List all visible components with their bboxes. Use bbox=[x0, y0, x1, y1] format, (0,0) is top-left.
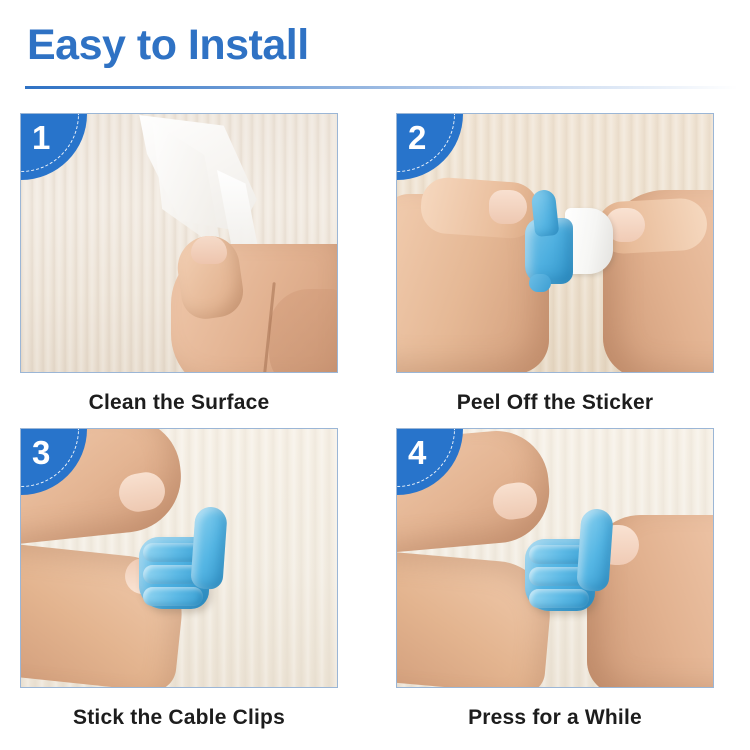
clip-thumb-illustration bbox=[531, 189, 560, 237]
step-photo-3: 3 bbox=[20, 428, 338, 688]
page-title: Easy to Install bbox=[27, 24, 309, 67]
step-photo-2: 2 bbox=[396, 113, 714, 373]
cable-clip-illustration bbox=[139, 503, 235, 615]
step-card-1: 1 Clean the Surface bbox=[20, 113, 338, 415]
install-instructions-page: Easy to Install 1 Clean the Sur bbox=[0, 0, 750, 750]
step-caption-1: Clean the Surface bbox=[20, 391, 338, 415]
step-number-2: 2 bbox=[408, 121, 426, 154]
thumbnail-illustration bbox=[191, 236, 227, 264]
step-caption-3: Stick the Cable Clips bbox=[20, 706, 338, 730]
step-photo-1: 1 bbox=[20, 113, 338, 373]
step-card-4: 4 Press for a While bbox=[396, 428, 714, 730]
cable-clip-illustration bbox=[525, 505, 621, 617]
step-photo-4: 4 bbox=[396, 428, 714, 688]
left-fingernail-illustration bbox=[489, 190, 527, 224]
cable-clip-illustration bbox=[525, 190, 577, 288]
step-number-4: 4 bbox=[408, 436, 426, 469]
clip-tail-illustration bbox=[529, 274, 551, 292]
title-divider bbox=[25, 86, 738, 89]
step-card-2: 2 Peel Off the Sticker bbox=[396, 113, 714, 415]
clip-finger-illustration bbox=[143, 587, 203, 606]
steps-grid: 1 Clean the Surface bbox=[0, 100, 750, 750]
step-caption-2: Peel Off the Sticker bbox=[396, 391, 714, 415]
clip-finger-illustration bbox=[529, 589, 589, 608]
step-number-1: 1 bbox=[32, 121, 50, 154]
header: Easy to Install bbox=[0, 0, 750, 100]
hand-knuckle-illustration bbox=[269, 289, 338, 373]
clip-thumb-illustration bbox=[576, 508, 614, 592]
clip-thumb-illustration bbox=[190, 506, 228, 590]
step-number-3: 3 bbox=[32, 436, 50, 469]
step-card-3: 3 Stick the Cable Clips bbox=[20, 428, 338, 730]
step-caption-4: Press for a While bbox=[396, 706, 714, 730]
